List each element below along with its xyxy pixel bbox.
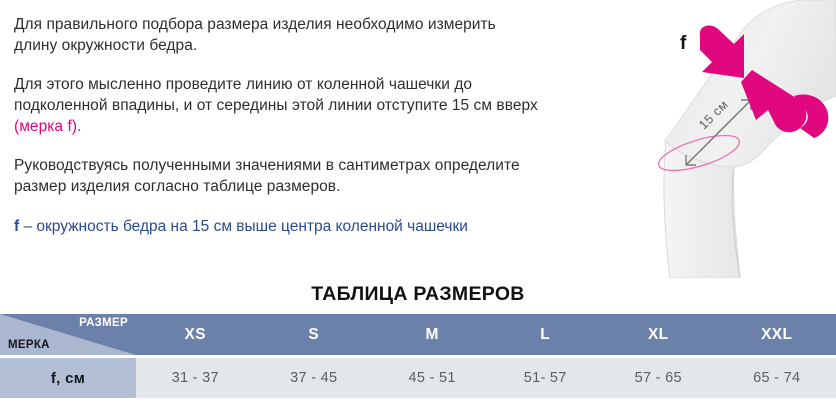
corner-size-label: РАЗМЕР: [79, 317, 128, 329]
leg-measurement-illustration: 15 см f: [648, 0, 836, 278]
leg-f-label: f: [680, 33, 686, 55]
table-row: f, см 31 - 37 37 - 45 45 - 51 51- 57 57 …: [0, 358, 836, 398]
size-table-title: ТАБЛИЦА РАЗМЕРОВ: [0, 283, 836, 306]
measure-legend: f – окружность бедра на 15 см выше центр…: [14, 216, 634, 237]
size-table: РАЗМЕР МЕРКА XS S M L XL XXL f, см 31 - …: [0, 314, 836, 398]
instruction-paragraph-2: Для этого мысленно проведите линию от ко…: [14, 74, 542, 137]
instruction-paragraph-1: Для правильного подбора размера изделия …: [14, 14, 542, 56]
instructions-block: Для правильного подбора размера изделия …: [14, 14, 542, 197]
cell-f-xs: 31 - 37: [136, 358, 254, 398]
size-column-header-m: M: [373, 314, 491, 355]
measure-f-note: (мерка f).: [14, 118, 81, 135]
leg-diagram-svg: 15 см: [648, 0, 836, 278]
cell-f-xxl: 65 - 74: [717, 358, 836, 398]
size-table-header-row: РАЗМЕР МЕРКА XS S M L XL XXL: [0, 314, 836, 355]
instruction-paragraph-3: Руководствуясь полученными значениями в …: [14, 155, 542, 197]
size-table-corner-cell: РАЗМЕР МЕРКА: [0, 314, 136, 355]
size-column-header-xl: XL: [599, 314, 717, 355]
pink-wrap-arrow-front: [700, 25, 744, 78]
size-column-header-xxl: XXL: [717, 314, 836, 355]
cell-f-s: 37 - 45: [254, 358, 372, 398]
cell-f-l: 51- 57: [491, 358, 599, 398]
size-column-header-xs: XS: [136, 314, 254, 355]
cell-f-xl: 57 - 65: [599, 358, 717, 398]
instruction-paragraph-2-text: Для этого мысленно проведите линию от ко…: [14, 76, 538, 114]
corner-measure-label: МЕРКА: [8, 339, 50, 351]
size-column-header-s: S: [254, 314, 372, 355]
size-column-header-l: L: [491, 314, 599, 355]
legend-description: – окружность бедра на 15 см выше центра …: [19, 218, 468, 235]
row-header-f-cm: f, см: [0, 358, 136, 398]
cell-f-m: 45 - 51: [373, 358, 491, 398]
